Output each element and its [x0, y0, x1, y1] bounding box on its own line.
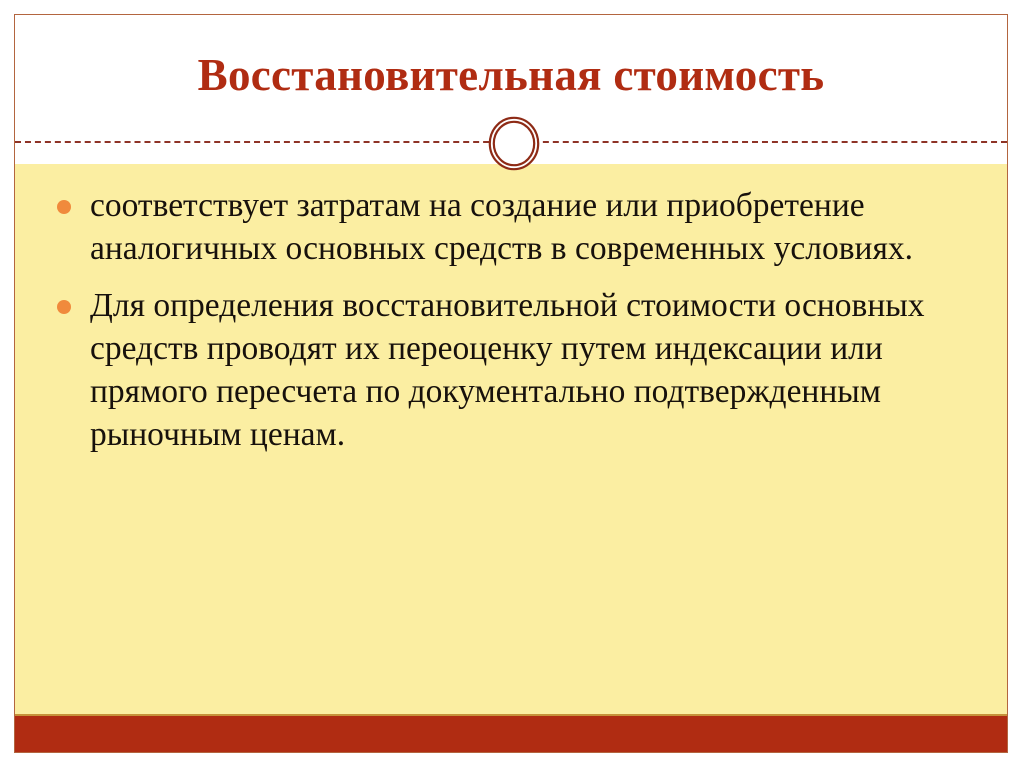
- slide-body-area: соответствует затратам на создание или п…: [15, 164, 1007, 716]
- list-item-text: соответствует затратам на создание или п…: [90, 187, 913, 267]
- list-item-text: Для определения восстановительной стоимо…: [90, 287, 925, 453]
- double-ring-circle-icon: [488, 116, 540, 171]
- list-item: Для определения восстановительной стоимо…: [37, 284, 967, 456]
- bottom-accent-bar: [15, 714, 1007, 752]
- bullet-list: соответствует затратам на создание или п…: [37, 184, 967, 456]
- list-item: соответствует затратам на создание или п…: [37, 184, 967, 270]
- slide: Восстановительная стоимость соответствуе…: [14, 14, 1008, 753]
- page-title: Восстановительная стоимость: [15, 49, 1007, 101]
- bullet-dot-icon: [57, 300, 71, 314]
- bullet-dot-icon: [57, 200, 71, 214]
